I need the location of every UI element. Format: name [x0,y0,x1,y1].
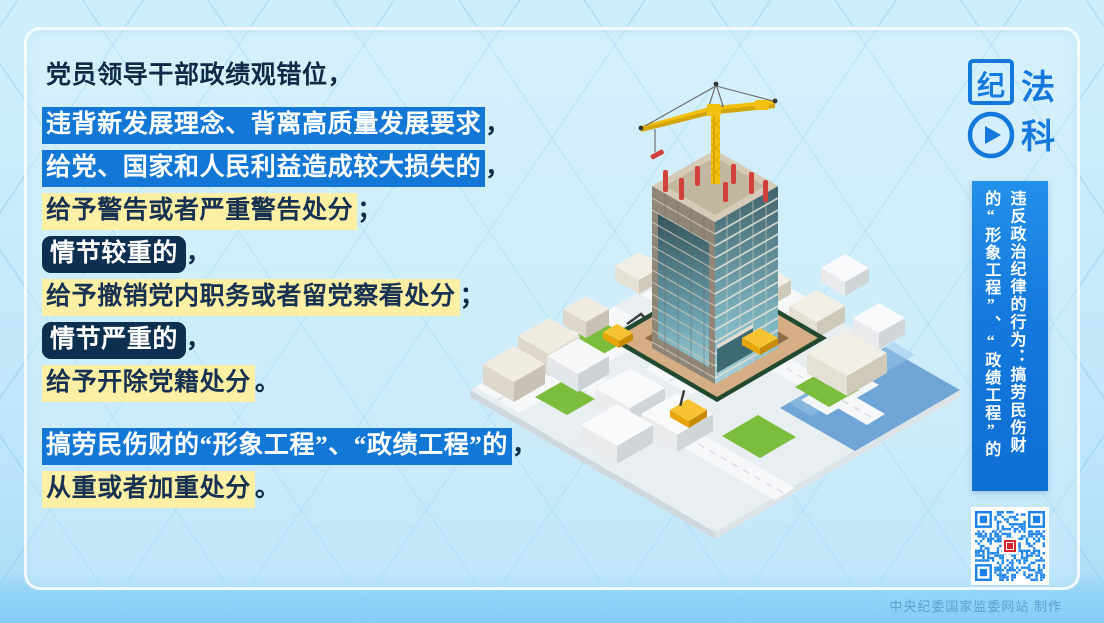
vertical-title-banner: 违反政治纪律的行为：搞劳民伤财的“形象工程”、“政绩工程”的 [972,181,1048,491]
jifakepu-logo: 纪 法 科 [966,55,1058,167]
statute-segment-tail: 。 [255,475,280,502]
statute-line: 情节严重的， [42,322,642,359]
right-rail: 纪 法 科 违反政治纪律的行为：搞劳民伤财的“形象工程”、“政绩工程”的 [962,55,1058,595]
statute-segment-tail: ； [460,283,485,310]
poster-root: 党员领导干部政绩观错位，违背新发展理念、背离高质量发展要求，给党、国家和人民利益… [0,0,1104,623]
statute-line: 给予撤销党内职务或者留党察看处分； [42,279,642,316]
statute-line: 违背新发展理念、背离高质量发展要求， [42,107,642,144]
statute-segment-blue: 给党、国家和人民利益造成较大损失的 [42,150,485,187]
logo-char-fa: 法 [1021,69,1055,107]
footer-credit: 中央纪委国家监委网站 制作 [889,596,1062,615]
statute-segment-navy: 情节较重的 [42,236,186,273]
statute-segment-tail: 。 [255,369,280,396]
statute-segment-navy: 情节严重的 [42,322,186,359]
statute-segment-blue: 违背新发展理念、背离高质量发展要求 [42,107,485,144]
logo-char-ji: 纪 [977,70,1005,101]
statute-line: 党员领导干部政绩观错位， [42,58,642,95]
statute-segment-yellow: 从重或者加重处分 [42,471,255,508]
statute-line: 给予警告或者严重警告处分； [42,193,642,230]
statute-segment-tail: ， [485,154,510,181]
statute-segment-tail: ， [512,432,537,459]
statute-line: 搞劳民伤财的“形象工程”、“政绩工程”的， [42,428,642,465]
statute-text-block: 党员领导干部政绩观错位，违背新发展理念、背离高质量发展要求，给党、国家和人民利益… [42,58,642,514]
statute-segment-yellow: 给予撤销党内职务或者留党察看处分 [42,279,460,316]
vertical-title-text: 违反政治纪律的行为：搞劳民伤财的“形象工程”、“政绩工程”的 [978,190,1029,482]
statute-segment-blue: 搞劳民伤财的“形象工程”、“政绩工程”的 [42,428,512,465]
statute-segment-yellow: 给予警告或者严重警告处分 [42,193,357,230]
statute-line: 给予开除党籍处分。 [42,365,642,402]
statute-segment-plain: 党员领导干部政绩观错位， [42,58,357,95]
statute-segment-tail: ， [186,326,211,353]
statute-segment-yellow: 给予开除党籍处分 [42,365,255,402]
statute-segment-tail: ； [357,197,382,224]
statute-line: 从重或者加重处分。 [42,471,642,508]
statute-line: 给党、国家和人民利益造成较大损失的， [42,150,642,187]
statute-segment-tail: ， [485,111,510,138]
qr-code[interactable] [971,507,1049,585]
logo-char-ke: 科 [1021,118,1055,156]
play-button-icon [985,126,1001,144]
statute-line-spacer [42,408,642,428]
statute-line: 情节较重的， [42,236,642,273]
statute-segment-tail: ， [186,240,211,267]
